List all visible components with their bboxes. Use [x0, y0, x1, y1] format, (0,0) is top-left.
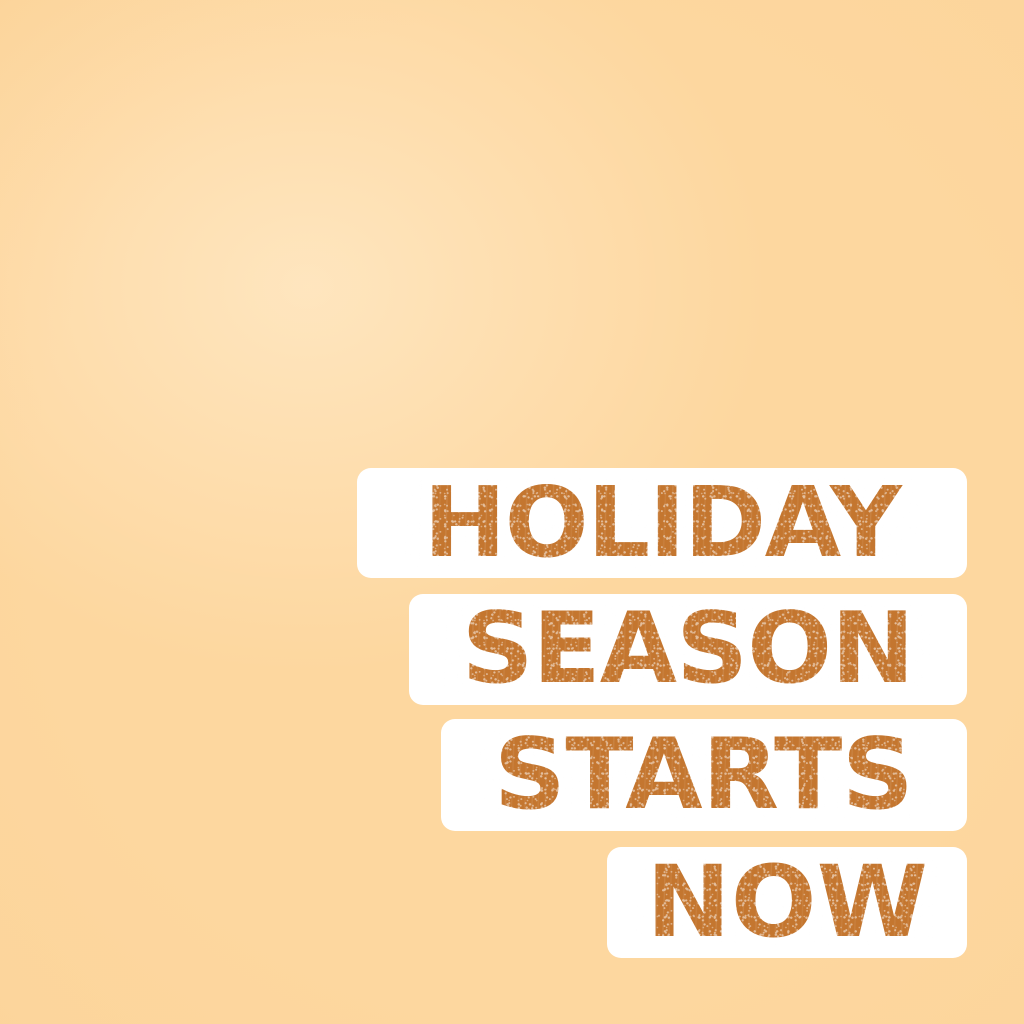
- headline-stack: HOLIDAY SEASON STARTS NOW: [0, 0, 1024, 1024]
- headline-line-2: SEASON: [462, 609, 914, 689]
- headline-plate-1: HOLIDAY: [357, 468, 967, 578]
- poster-canvas: HOLIDAY SEASON STARTS NOW: [0, 0, 1024, 1024]
- headline-line-1: HOLIDAY: [424, 483, 901, 563]
- headline-plate-2: SEASON: [409, 594, 967, 705]
- headline-line-3: STARTS: [494, 735, 913, 815]
- headline-plate-3: STARTS: [441, 719, 967, 831]
- headline-line-4: NOW: [646, 862, 928, 943]
- headline-plate-4: NOW: [607, 847, 967, 958]
